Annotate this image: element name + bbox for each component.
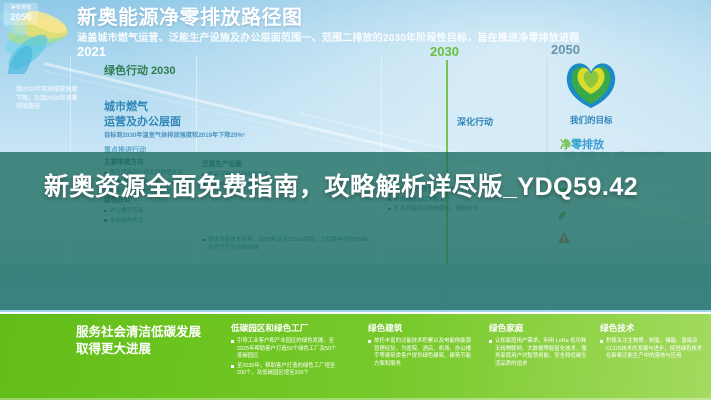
city-gas-title: 城市燃气 运营及办公层面 xyxy=(104,100,181,130)
net-zero-word-c: 排放 xyxy=(582,139,604,151)
timeline-year-2021: 2021 xyxy=(77,44,106,59)
city-gas-title-line2: 运营及办公层面 xyxy=(104,115,181,130)
city-gas-title-line1: 城市燃气 xyxy=(104,100,181,115)
green-column-4: 绿色技术 积极关注生物质、制氢、储能、氢能及CCUS技术的发展与进步，促进绿色技… xyxy=(600,323,704,363)
timeline-year-2050: 2050 xyxy=(551,42,580,57)
net-zero-logo-icon xyxy=(561,58,621,110)
green-column-2: 绿色建筑 依托丰富的泛能技术积累以及电能侧能源管理经验，为医院、酒店、机场、办公… xyxy=(368,323,476,370)
phase-our-goal: 我们的目标 xyxy=(570,114,613,126)
logo-badge: 净零排放 2050 xyxy=(4,3,38,25)
page-subtitle: 涵盖城市燃气运营、泛能生产设施及办公层面范围一、范围二排放的2030年阶段性目标… xyxy=(77,32,707,46)
green-column-4-heading: 绿色技术 xyxy=(600,323,704,334)
timeline-year-2030: 2030 xyxy=(430,44,459,59)
green-column-1: 低碳园区和绿色工厂 引导工业客户和产业园区的绿色发展，至2025年帮助客户打造5… xyxy=(231,323,341,380)
list-item: 认知家庭用户需求，利用 LoRa 低功耗无线物联网、大数据等能智化技术，服务家庭… xyxy=(489,338,589,368)
green-column-3-heading: 绿色家庭 xyxy=(489,323,589,334)
list-item: 依托丰富的泛能技术积累以及电能侧能源管理经验，为医院、酒店、机场、办公楼宇等建筑… xyxy=(368,338,476,368)
phase-deepen-action: 深化行动 xyxy=(457,115,493,128)
net-zero-word-b: 零 xyxy=(571,139,582,151)
logo-badge-label: 净零排放 xyxy=(11,5,32,11)
green-band-title: 服务社会清洁低碳发展 取得更大进展 xyxy=(76,324,226,358)
phase-green-action: 绿色行动 2030 xyxy=(104,62,176,78)
green-column-1-heading: 低碳园区和绿色工厂 xyxy=(231,323,341,334)
lotus-flower-icon: 净零排放 2050 xyxy=(0,0,86,74)
logo-badge-year: 2050 xyxy=(4,12,38,22)
green-column-2-list: 依托丰富的泛能技术积累以及电能侧能源管理经验，为医院、酒店、机场、办公楼宇等建筑… xyxy=(368,338,476,368)
list-item: 至2030年，帮助客户打造的绿色工厂增至200个，及低碳园区增至200个 xyxy=(231,363,341,378)
page-title: 新奥能源净零排放路径图 xyxy=(77,6,707,30)
net-zero-wordmark: 净零排放 xyxy=(560,136,604,152)
green-column-1-list: 引导工业客户和产业园区的绿色发展，至2025年帮助客户打造50个绿色工厂及50个… xyxy=(231,338,341,378)
list-item: 积极关注生物质、制氢、储能、氢能及CCUS技术的发展与进步，促进绿色技术在新奥泛… xyxy=(600,338,704,361)
green-column-4-list: 积极关注生物质、制氢、储能、氢能及CCUS技术的发展与进步，促进绿色技术在新奥泛… xyxy=(600,338,704,361)
green-footer-band: 服务社会清洁低碳发展 取得更大进展 低碳园区和绿色工厂 引导工业客户和产业园区的… xyxy=(0,312,711,400)
green-column-3: 绿色家庭 认知家庭用户需求，利用 LoRa 低功耗无线物联网、大数据等能智化技术… xyxy=(489,323,589,370)
city-gas-target: 目标到2030年温室气体排放强度较2019年下降20%¹ xyxy=(104,131,304,140)
overlay-caption: 新奥资源全面免费指南，攻略解析详尽版_YDQ59.42 xyxy=(44,170,668,204)
green-column-3-list: 认知家庭用户需求，利用 LoRa 低功耗无线物联网、大数据等能智化技术，服务家庭… xyxy=(489,338,589,368)
left-side-note: 到2030年实现排放强度下降，及到2050年净零排放路径 xyxy=(16,86,80,112)
list-item: 引导工业客户和产业园区的绿色发展，至2025年帮助客户打造50个绿色工厂及50个… xyxy=(231,338,341,361)
green-column-2-heading: 绿色建筑 xyxy=(368,323,476,334)
header: 新奥能源净零排放路径图 涵盖城市燃气运营、泛能生产设施及办公层面范围一、范围二排… xyxy=(77,6,707,46)
net-zero-word-a: 净 xyxy=(560,139,571,151)
screenshot-root: 净零排放 2050 新奥能源净零排放路径图 涵盖城市燃气运营、泛能生产设施及办公… xyxy=(0,0,711,400)
